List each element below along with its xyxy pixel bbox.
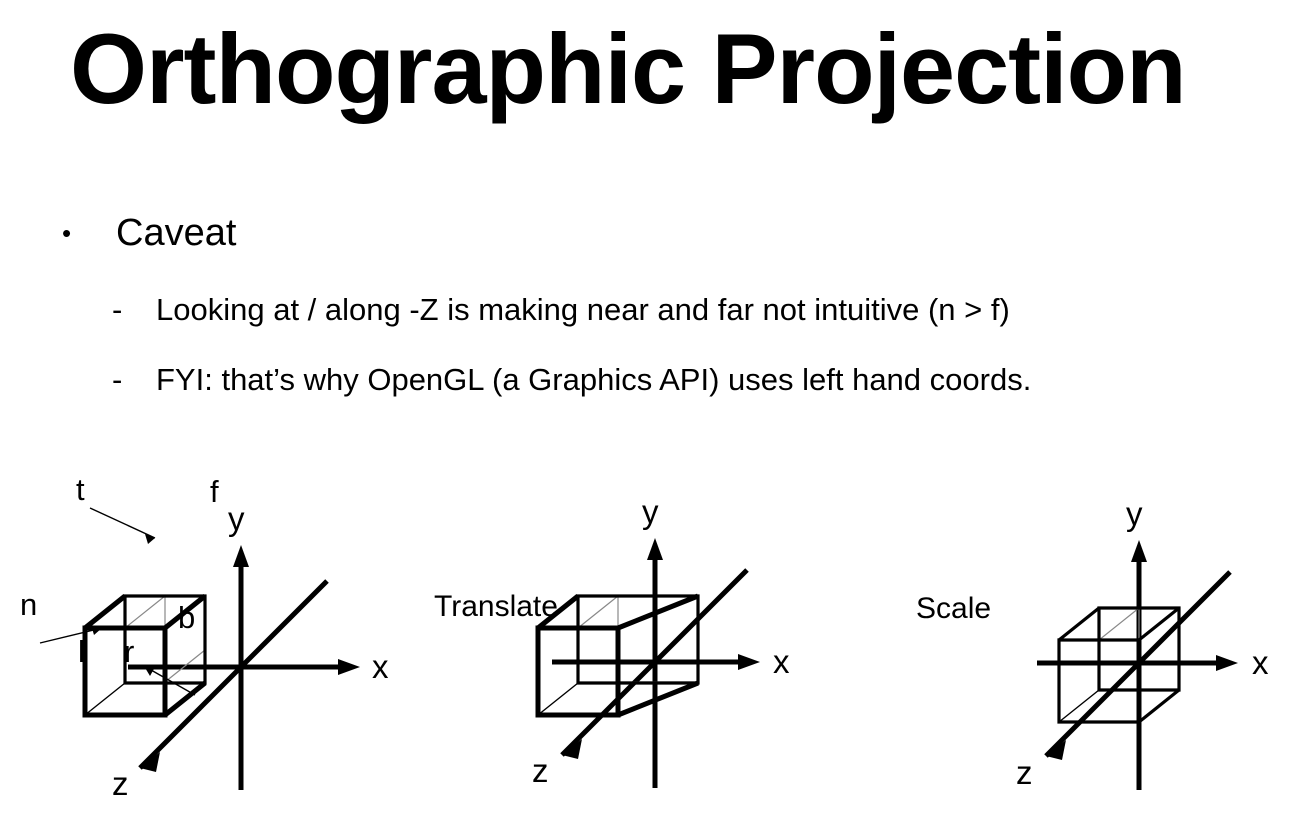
axis-label-z: z bbox=[1016, 754, 1033, 791]
bullet-level2-text-1: Looking at / along -Z is making near and… bbox=[156, 292, 1010, 327]
axis-label-z: z bbox=[532, 752, 549, 789]
translate-box bbox=[538, 596, 698, 715]
bullet-level2-item-2: -FYI: that’s why OpenGL (a Graphics API)… bbox=[112, 364, 1031, 395]
bullet-level1-caveat: •Caveat bbox=[62, 214, 236, 252]
figure-view-volume: x y z bbox=[20, 450, 420, 820]
box-hidden-edge-a bbox=[1099, 608, 1139, 640]
z-axis-line bbox=[140, 581, 327, 768]
axis-label-y: y bbox=[642, 493, 659, 530]
axes-group bbox=[552, 538, 760, 788]
box-hidden-edge-a bbox=[125, 596, 165, 628]
box-label-right: r bbox=[124, 634, 134, 669]
y-axis-arrowhead bbox=[647, 538, 663, 560]
box-label-bottom: b bbox=[178, 600, 195, 635]
box-edge-bottom-left bbox=[85, 683, 125, 715]
axis-label-x: x bbox=[1252, 644, 1269, 681]
leader-line-top bbox=[90, 508, 155, 538]
x-axis-arrowhead bbox=[738, 654, 760, 670]
bullet-level2-text-2: FYI: that’s why OpenGL (a Graphics API) … bbox=[156, 362, 1031, 397]
box-label-top: t bbox=[76, 472, 85, 507]
box-edge-top-right bbox=[618, 596, 698, 628]
box-edge-top-left bbox=[85, 596, 125, 628]
box-edge-bottom-left bbox=[538, 683, 578, 715]
slide-canvas: Orthographic Projection •Caveat -Looking… bbox=[0, 0, 1312, 826]
box-edge-bottom-right bbox=[1139, 690, 1179, 722]
axis-label-z: z bbox=[112, 765, 129, 802]
bullet-dash-icon: - bbox=[112, 364, 156, 395]
x-axis-arrowhead bbox=[1216, 655, 1238, 671]
bullet-dot-icon: • bbox=[62, 220, 116, 246]
page-title: Orthographic Projection bbox=[70, 16, 1186, 123]
box-edge-top-left bbox=[538, 596, 578, 628]
box-label-far: f bbox=[210, 474, 219, 509]
box-hidden-edge-a bbox=[578, 596, 618, 628]
scale-diagram: x y z bbox=[890, 450, 1290, 820]
axis-label-y: y bbox=[1126, 495, 1143, 532]
figure-translate: x y z bbox=[410, 450, 810, 820]
axis-label-y: y bbox=[228, 500, 245, 537]
bullet-dash-icon: - bbox=[112, 294, 156, 325]
box-edge-top-left bbox=[1059, 608, 1099, 640]
axis-label-x: x bbox=[773, 643, 790, 680]
y-axis-arrowhead bbox=[233, 545, 249, 567]
box-label-near: n bbox=[20, 587, 37, 622]
x-axis-arrowhead bbox=[338, 659, 360, 675]
figure-scale: x y z bbox=[890, 450, 1290, 820]
box-edge-top-right bbox=[1139, 608, 1179, 640]
bullet-level1-text: Caveat bbox=[116, 212, 236, 254]
bullet-level2-item-1: -Looking at / along -Z is making near an… bbox=[112, 294, 1010, 325]
view-volume-diagram: x y z bbox=[20, 450, 420, 820]
box-spacer bbox=[85, 540, 165, 541]
y-axis-arrowhead bbox=[1131, 540, 1147, 562]
axis-label-x: x bbox=[372, 648, 389, 685]
box-label-left: l bbox=[78, 634, 85, 669]
translate-diagram: x y z bbox=[410, 450, 810, 820]
